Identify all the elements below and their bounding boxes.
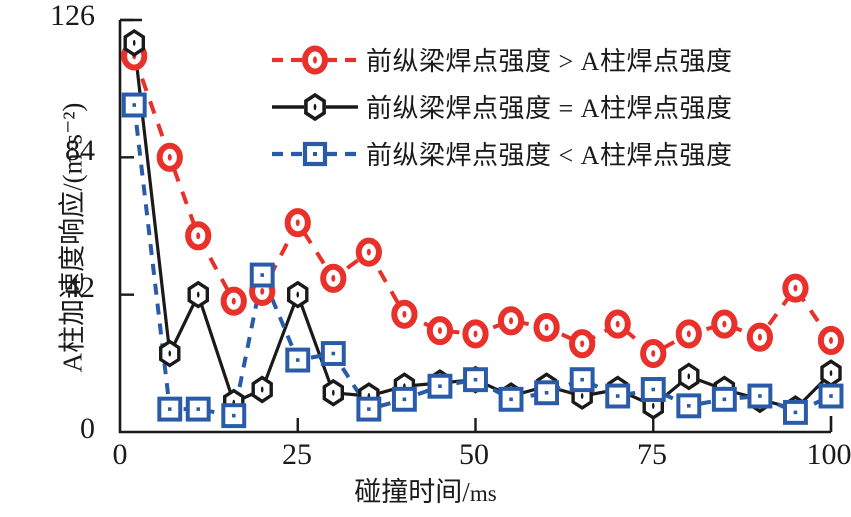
marker-square-dot (580, 378, 584, 382)
marker-hexagon-dot (133, 40, 136, 46)
marker-square-dot (794, 411, 798, 415)
y-tick-label-84: 84 (0, 134, 95, 168)
marker-square-dot (232, 414, 236, 418)
legend-symbol-circle-icon (270, 40, 360, 80)
marker-square-dot (474, 378, 478, 382)
marker-circle-dot (296, 219, 300, 226)
legend-symbol-square-icon (270, 134, 360, 174)
marker-square-dot (616, 394, 620, 398)
legend-marker-dot (314, 103, 317, 109)
x-axis-label-text: 碰撞时间/ (354, 477, 470, 507)
marker-circle-dot (331, 275, 335, 282)
y-tick-label-126: 126 (0, 0, 95, 33)
legend-label-less: 前纵梁焊点强度 < A柱焊点强度 (360, 135, 732, 172)
marker-circle-dot (829, 337, 833, 344)
legend-symbol-hexagon-icon (270, 87, 360, 127)
marker-square-dot (403, 398, 407, 402)
marker-square-dot (332, 352, 336, 356)
marker-square-dot (758, 394, 762, 398)
x-axis-label: 碰撞时间/ms (0, 470, 851, 509)
marker-square-dot (296, 358, 300, 362)
marker-circle-dot (438, 327, 442, 334)
marker-circle-dot (196, 232, 200, 239)
marker-circle-dot (474, 331, 478, 338)
marker-circle-dot (722, 321, 726, 328)
marker-hexagon-dot (332, 390, 335, 396)
marker-hexagon-dot (581, 393, 584, 399)
marker-square-dot (260, 273, 264, 277)
marker-hexagon-dot (197, 292, 200, 298)
marker-square-dot (168, 407, 172, 411)
marker-hexagon-dot (688, 373, 691, 379)
marker-circle-dot (616, 321, 620, 328)
x-tick-label-0: 0 (60, 438, 180, 472)
marker-square-dot (196, 407, 200, 411)
marker-hexagon-dot (830, 370, 833, 376)
chart-figure: A柱加速度响应/(m·s⁻²) 碰撞时间/ms 126 84 42 0 0 25… (0, 0, 851, 517)
legend: 前纵梁焊点强度 > A柱焊点强度 前纵梁焊点强度 = A柱焊点强度 前纵梁焊点强… (270, 36, 840, 177)
marker-circle-dot (651, 350, 655, 357)
marker-square-dot (651, 388, 655, 392)
x-tick-label-100: 100 (769, 438, 851, 472)
legend-marker-dot (313, 152, 317, 156)
legend-label-greater: 前纵梁焊点强度 > A柱焊点强度 (360, 41, 732, 78)
marker-circle-dot (509, 317, 513, 324)
legend-item-greater: 前纵梁焊点强度 > A柱焊点强度 (270, 36, 840, 83)
legend-item-equal: 前纵梁焊点强度 = A柱焊点强度 (270, 83, 840, 130)
marker-circle-dot (758, 334, 762, 341)
legend-item-less: 前纵梁焊点强度 < A柱焊点强度 (270, 130, 840, 177)
y-tick-label-42: 42 (0, 271, 95, 305)
marker-square-dot (509, 398, 513, 402)
marker-square-dot (367, 407, 371, 411)
marker-hexagon-dot (168, 351, 171, 357)
marker-circle-dot (793, 285, 797, 292)
x-axis-label-unit: ms (470, 481, 497, 506)
marker-hexagon-dot (652, 403, 655, 409)
legend-label-equal: 前纵梁焊点强度 = A柱焊点强度 (360, 88, 732, 125)
x-tick-label-75: 75 (592, 438, 712, 472)
marker-circle-dot (232, 298, 236, 305)
y-axis-label: A柱加速度响应/(m·s⁻²) (51, 28, 90, 448)
marker-square-dot (438, 384, 442, 388)
marker-hexagon-dot (261, 386, 264, 392)
marker-square-dot (829, 394, 833, 398)
marker-square-dot (545, 391, 549, 395)
marker-circle-dot (402, 311, 406, 318)
x-tick-label-50: 50 (414, 438, 534, 472)
marker-circle-dot (168, 154, 172, 161)
marker-circle-dot (580, 340, 584, 347)
marker-square-dot (687, 404, 691, 408)
marker-hexagon-dot (296, 292, 299, 298)
marker-square-dot (723, 398, 727, 402)
marker-circle-dot (687, 331, 691, 338)
legend-marker-dot (313, 56, 317, 63)
marker-circle-dot (260, 288, 264, 295)
marker-circle-dot (545, 324, 549, 331)
x-tick-label-25: 25 (237, 438, 357, 472)
marker-circle-dot (367, 249, 371, 256)
marker-square-dot (132, 103, 136, 107)
